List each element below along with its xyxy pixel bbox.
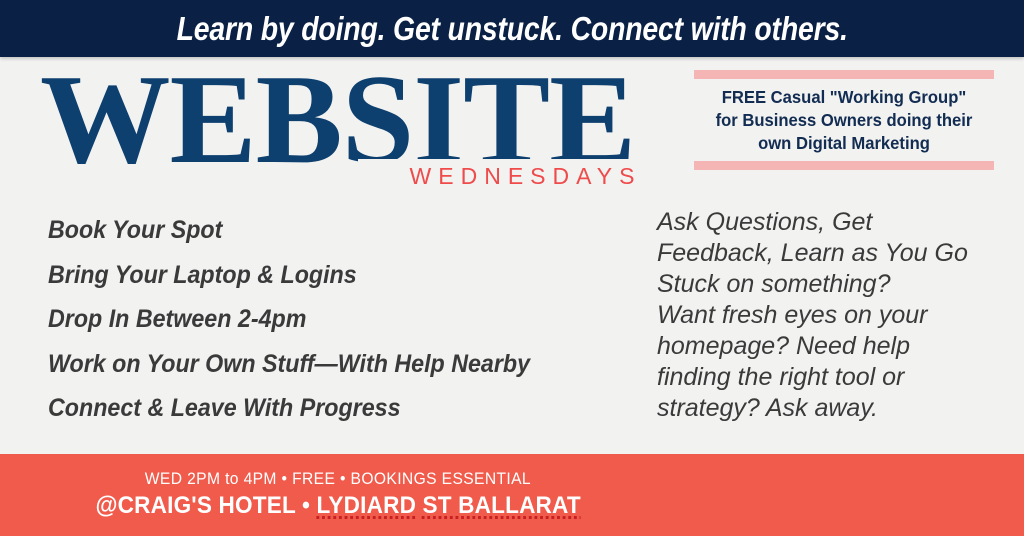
blurb-paragraph: Ask Questions, Get Feedback, Learn as Yo… <box>657 207 987 424</box>
masthead: WEBSITE WEDNESDAYS <box>40 62 680 177</box>
blurb-line: strategy? Ask away. <box>657 393 987 424</box>
info-box-line-3: own Digital Marketing <box>703 132 984 155</box>
blurb-line: homepage? Need help <box>657 331 987 362</box>
blurb-line: Feedback, Learn as You Go <box>657 238 987 269</box>
info-box-line-1: FREE Casual "Working Group" <box>703 86 984 109</box>
footer-venue-prefix: @CRAIG'S HOTEL • <box>95 492 316 519</box>
info-box: FREE Casual "Working Group" for Business… <box>694 70 994 170</box>
blurb-line: Stuck on something? <box>657 269 987 300</box>
blurb-line: Want fresh eyes on your <box>657 300 987 331</box>
list-item: Drop In Between 2-4pm <box>48 297 606 342</box>
info-box-rule-top <box>694 70 994 79</box>
footer-venue: @CRAIG'S HOTEL • LYDIARD ST BALLARAT <box>95 491 580 521</box>
checklist: Book Your Spot Bring Your Laptop & Login… <box>48 208 648 431</box>
info-box-rule-bottom <box>694 161 994 170</box>
blurb-line: finding the right tool or <box>657 362 987 393</box>
blurb-line: Ask Questions, Get <box>657 207 987 238</box>
footer-venue-city: ST BALLARAT <box>422 492 580 519</box>
footer-venue-street: LYDIARD <box>316 492 416 519</box>
info-box-line-2: for Business Owners doing their <box>703 109 984 132</box>
footer-bar: WED 2PM to 4PM • FREE • BOOKINGS ESSENTI… <box>0 454 1024 536</box>
list-item: Book Your Spot <box>48 208 606 253</box>
list-item: Bring Your Laptop & Logins <box>48 253 606 298</box>
footer-details: WED 2PM to 4PM • FREE • BOOKINGS ESSENTI… <box>0 466 676 521</box>
banner-tagline: Learn by doing. Get unstuck. Connect wit… <box>176 10 847 48</box>
promo-poster: Learn by doing. Get unstuck. Connect wit… <box>0 0 1024 536</box>
footer-venue-space <box>416 492 422 519</box>
footer-event-details: WED 2PM to 4PM • FREE • BOOKINGS ESSENTI… <box>145 466 531 491</box>
info-box-body: FREE Casual "Working Group" for Business… <box>702 79 987 161</box>
list-item: Work on Your Own Stuff—With Help Nearby <box>48 342 606 387</box>
wordmark-overlay-band: WEDNESDAYS <box>358 159 686 193</box>
list-item: Connect & Leave With Progress <box>48 386 606 431</box>
wordmark-wednesdays: WEDNESDAYS <box>403 163 642 190</box>
